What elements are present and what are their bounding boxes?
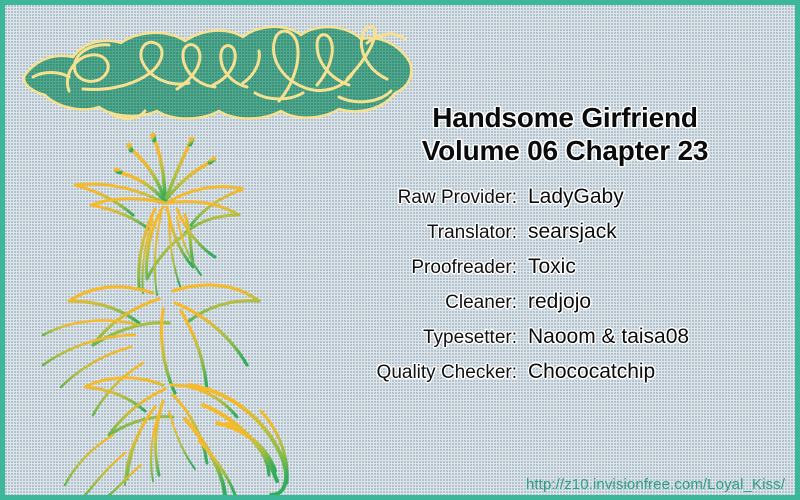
credit-value: redjojo (528, 290, 591, 314)
credit-row-raw-provider: Raw Provider: LadyGaby (345, 185, 785, 220)
credits-list: Raw Provider: LadyGaby Translator: sears… (345, 185, 785, 395)
credit-label: Quality Checker: (345, 362, 517, 384)
credit-label: Raw Provider: (345, 187, 517, 209)
credit-label: Typesetter: (345, 327, 517, 349)
credit-value: LadyGaby (528, 185, 624, 209)
credit-value: Naoom & taisa08 (528, 325, 689, 349)
credits-text-block: Handsome Girfriend Volume 06 Chapter 23 … (345, 101, 785, 395)
credit-row-translator: Translator: searsjack (345, 220, 785, 255)
lily-flower-illustration (13, 123, 333, 495)
credit-value: Chococatchip (528, 360, 655, 384)
credit-value: searsjack (528, 220, 617, 244)
credit-row-quality-checker: Quality Checker: Chococatchip (345, 360, 785, 395)
credit-label: Proofreader: (345, 257, 517, 279)
title-line-2: Volume 06 Chapter 23 (345, 134, 785, 167)
credit-row-proofreader: Proofreader: Toxic (345, 255, 785, 290)
title-line-1: Handsome Girfriend (345, 101, 785, 134)
credit-row-typesetter: Typesetter: Naoom & taisa08 (345, 325, 785, 360)
credit-value: Toxic (528, 255, 576, 279)
credit-label: Cleaner: (345, 292, 517, 314)
footer-url[interactable]: http://z10.invisionfree.com/Loyal_Kiss/ (526, 476, 785, 493)
credits-page: Handsome Girfriend Volume 06 Chapter 23 … (0, 0, 800, 500)
credit-label: Translator: (345, 222, 517, 244)
flower-strokes (43, 135, 287, 495)
credit-row-cleaner: Cleaner: redjojo (345, 290, 785, 325)
paper-background: Handsome Girfriend Volume 06 Chapter 23 … (5, 5, 795, 495)
